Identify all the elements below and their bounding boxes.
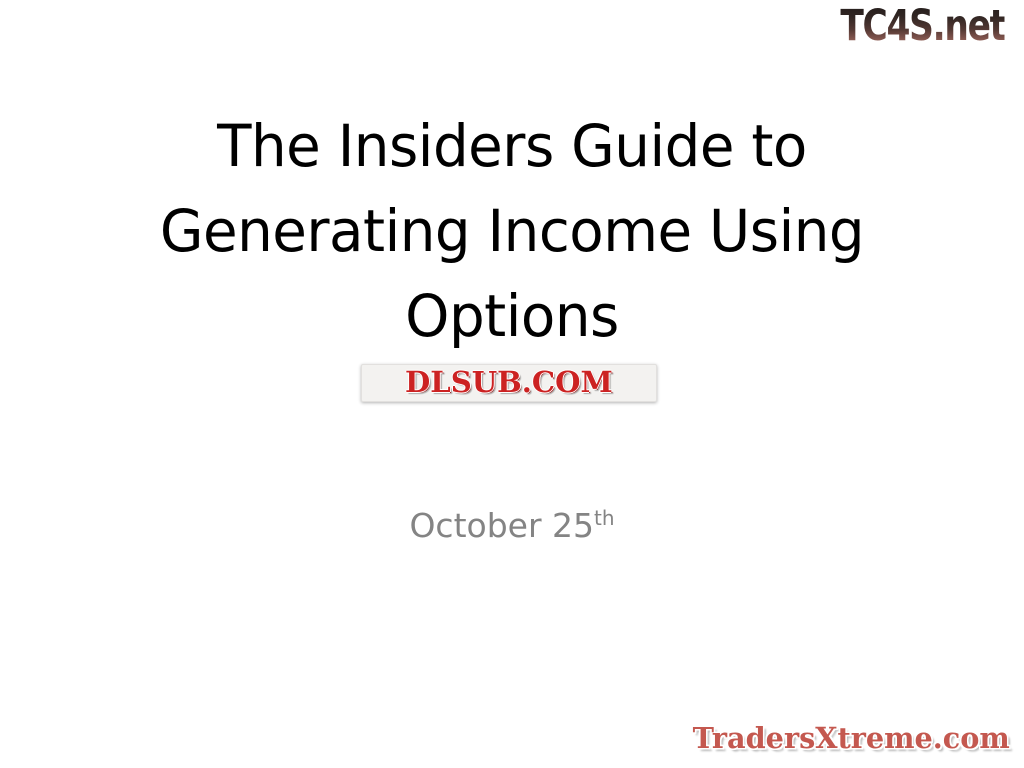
tc4s-logo-watermark: TC4S.net: [831, 2, 1015, 50]
tradersxtreme-watermark: TradersXtreme.com: [686, 718, 1016, 758]
slide-subtitle: October 25th: [62, 505, 962, 547]
presentation-slide: TC4S.net The Insiders Guide to Generatin…: [0, 0, 1024, 768]
title-line-2: Generating Income Using: [76, 189, 949, 274]
subtitle-date-text: October 25: [409, 506, 594, 545]
tc4s-logo-text: TC4S.net: [841, 5, 1005, 47]
dlsub-watermark-text: DLSUB.COM: [405, 369, 613, 398]
dlsub-watermark: DLSUB.COM: [361, 364, 657, 402]
subtitle-date: October 25th: [409, 506, 614, 545]
slide-title: The Insiders Guide to Generating Income …: [62, 104, 962, 359]
subtitle-date-ordinal: th: [594, 506, 615, 530]
title-line-3: Options: [76, 274, 949, 359]
tradersxtreme-watermark-text: TradersXtreme.com: [692, 724, 1009, 753]
title-line-1: The Insiders Guide to: [76, 104, 949, 189]
